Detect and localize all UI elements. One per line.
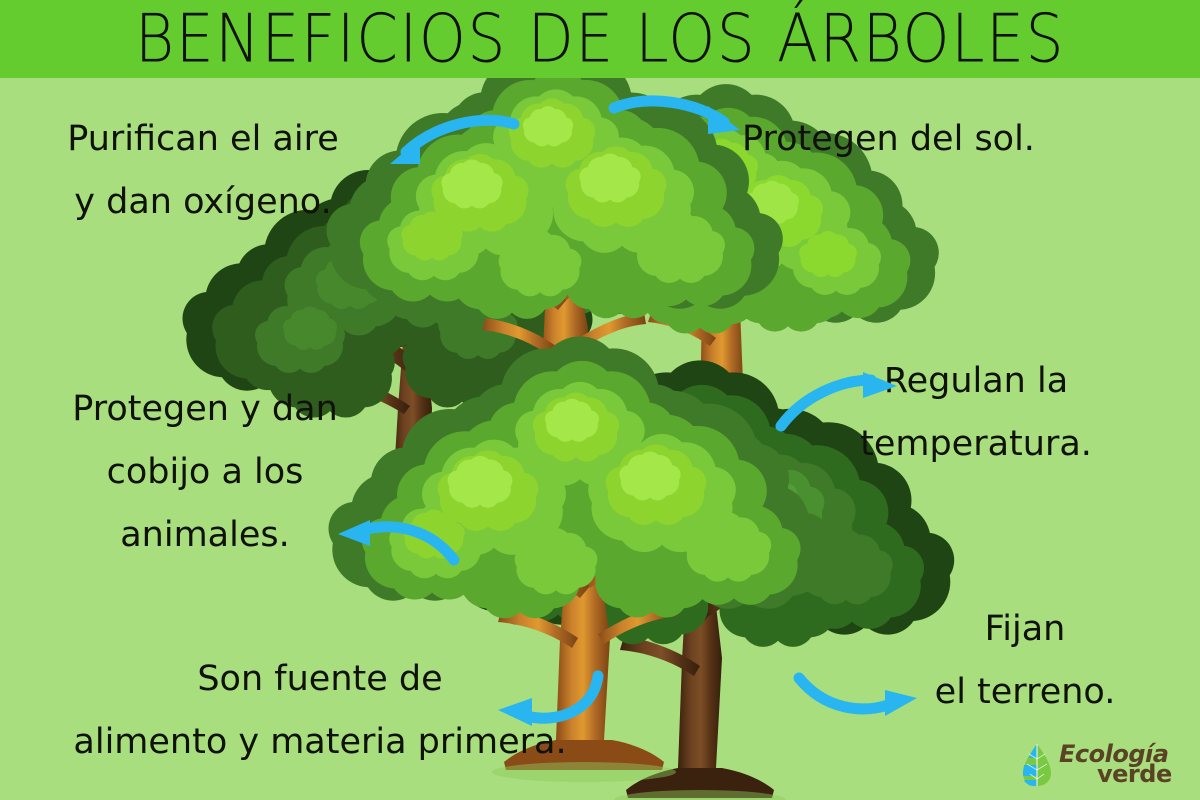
- caption-line: alimento y materia primera.: [0, 711, 640, 774]
- caption-line: Protegen y dan: [10, 378, 400, 441]
- brand-logo[interactable]: Ecología verde: [1022, 742, 1181, 788]
- caption-line: Fijan: [860, 598, 1190, 661]
- page-title: BENEFICIOS DE LOS ÁRBOLES: [135, 5, 1065, 72]
- caption-line: Son fuente de: [0, 648, 640, 711]
- logo-word-verde: verde: [1097, 762, 1172, 786]
- logo-wordmark: Ecología verde: [1059, 742, 1181, 788]
- caption-line: y dan oxígeno.: [8, 171, 398, 234]
- caption-purifican-el-aire: Purifican el aire y dan oxígeno.: [8, 108, 398, 234]
- leaf-icon: [1022, 743, 1052, 787]
- caption-fuente-alimento: Son fuente de alimento y materia primera…: [0, 648, 640, 774]
- caption-protegen-del-sol: Protegen del sol.: [742, 108, 1162, 171]
- caption-line: Regulan la: [760, 350, 1192, 413]
- caption-line: el terreno.: [860, 661, 1190, 724]
- caption-line: Purifican el aire: [8, 108, 398, 171]
- caption-fijan-terreno: Fijan el terreno.: [860, 598, 1190, 724]
- title-banner: BENEFICIOS DE LOS ÁRBOLES: [0, 0, 1200, 78]
- caption-line: temperatura.: [760, 413, 1192, 476]
- caption-regulan-temperatura: Regulan la temperatura.: [760, 350, 1192, 476]
- caption-cobijo-animales: Protegen y dan cobijo a los animales.: [10, 378, 400, 567]
- caption-line: Protegen del sol.: [742, 108, 1162, 171]
- caption-line: cobijo a los: [10, 441, 400, 504]
- infographic-poster: BENEFICIOS DE LOS ÁRBOLES: [0, 0, 1200, 800]
- caption-line: animales.: [10, 504, 400, 567]
